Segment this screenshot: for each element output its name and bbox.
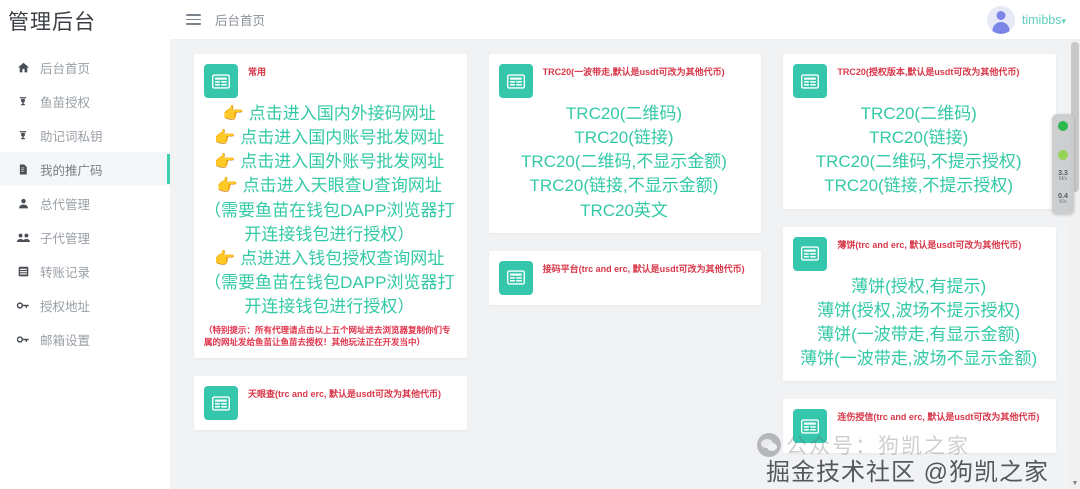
card-link[interactable]: TRC20(二维码,不显示金额) — [499, 150, 750, 174]
card-link-label: TRC20(链接) — [869, 128, 968, 147]
vertical-scrollbar[interactable]: ▲ ▼ — [1070, 40, 1080, 489]
card-link-label: TRC20(二维码,不显示金额) — [521, 152, 727, 171]
hamburger-icon[interactable] — [186, 11, 201, 28]
sidebar-item-2[interactable]: 助记词私钥 — [0, 118, 170, 152]
card-0: 常用👉 点击进入国内外接码网址👉 点击进入国内账号批发网址👉 点击进入国外账号批… — [194, 54, 467, 358]
status-dot-lime — [1058, 150, 1068, 160]
card-link-label: TRC20(二维码,不提示授权) — [816, 152, 1022, 171]
card-link[interactable]: TRC20(二维码) — [793, 102, 1044, 126]
card-link[interactable]: 👉 点击进入国内外接码网址 — [204, 102, 455, 126]
sidebar-item-label: 邮箱设置 — [40, 330, 90, 349]
card-header: 常用 — [204, 64, 455, 98]
pointing-hand-icon: 👉 — [214, 249, 235, 268]
scroll-down-icon[interactable]: ▼ — [1070, 478, 1080, 489]
card-link[interactable]: 👉 点击进入国外账号批发网址 — [204, 150, 455, 174]
key-icon — [14, 300, 32, 311]
card-3: 天眼查(trc and erc, 默认是usdt可改为其他代币) — [194, 376, 467, 430]
card-link[interactable]: 薄饼(一波带走,有显示金额) — [793, 323, 1044, 347]
key-icon — [14, 334, 32, 345]
card-5: 薄饼(trc and erc, 默认是usdt可改为其他代币)薄饼(授权,有提示… — [783, 227, 1056, 382]
card-link-label: 点击进入国内账号批发网址 — [240, 128, 444, 147]
card-link-label: TRC20(链接,不提示授权) — [824, 176, 1013, 195]
users-icon — [14, 232, 32, 243]
avatar[interactable] — [987, 6, 1015, 34]
card-header: 连伤授信(trc and erc, 默认是usdt可改为其他代币) — [793, 409, 1044, 443]
card-link[interactable]: 👉 点击进入天眼查U查询网址 — [204, 174, 455, 198]
card-link-label: TRC20(二维码) — [861, 104, 977, 123]
card-links: TRC20(二维码)TRC20(链接)TRC20(二维码,不显示金额)TRC20… — [499, 102, 750, 223]
card-grid: 常用👉 点击进入国内外接码网址👉 点击进入国内账号批发网址👉 点击进入国外账号批… — [194, 54, 1056, 453]
sidebar-item-label: 鱼苗授权 — [40, 92, 90, 111]
card-links: TRC20(二维码)TRC20(链接)TRC20(二维码,不提示授权)TRC20… — [793, 102, 1044, 199]
sidebar-nav: 后台首页鱼苗授权助记词私钥我的推广码总代管理子代管理转账记录授权地址邮箱设置 — [0, 50, 170, 356]
card-header: 接码平台(trc and erc, 默认是usdt可改为其他代币) — [499, 261, 750, 295]
card-link-label: TRC20(二维码) — [566, 104, 682, 123]
shield-icon — [14, 130, 32, 141]
card-link[interactable]: （需要鱼苗在钱包DAPP浏览器打开连接钱包进行授权） — [204, 271, 455, 319]
sidebar-item-3[interactable]: 我的推广码 — [0, 152, 170, 186]
sidebar-item-label: 子代管理 — [40, 228, 90, 247]
card-link[interactable]: 👉 点进进入钱包授权查询网址 — [204, 247, 455, 271]
status-dot-green — [1058, 121, 1068, 131]
brand-title: 管理后台 — [0, 0, 170, 50]
card-link[interactable]: 👉 点击进入国内账号批发网址 — [204, 126, 455, 150]
chevron-down-icon: ▾ — [1061, 16, 1066, 26]
card-link-label: 点击进入国内外接码网址 — [249, 104, 436, 123]
card-link-label: 薄饼(授权,有提示) — [851, 277, 986, 296]
sidebar-item-label: 授权地址 — [40, 296, 90, 315]
sidebar-item-label: 后台首页 — [40, 58, 90, 77]
content-scroll: 常用👉 点击进入国内外接码网址👉 点击进入国内账号批发网址👉 点击进入国外账号批… — [170, 40, 1080, 489]
sidebar-item-label: 我的推广码 — [40, 160, 103, 179]
pointing-hand-icon: 👉 — [214, 128, 235, 147]
card-link[interactable]: TRC20(二维码) — [499, 102, 750, 126]
sidebar: 管理后台 后台首页鱼苗授权助记词私钥我的推广码总代管理子代管理转账记录授权地址邮… — [0, 0, 170, 489]
card-link-label: 薄饼(一波带走,有显示金额) — [817, 325, 1020, 344]
list-card-icon — [499, 261, 533, 295]
card-header: 天眼查(trc and erc, 默认是usdt可改为其他代币) — [204, 386, 455, 420]
card-link[interactable]: TRC20(链接,不显示金额) — [499, 174, 750, 198]
card-title: 连伤授信(trc and erc, 默认是usdt可改为其他代币) — [837, 409, 1039, 423]
main-area: 后台首页 timibbs▾ 常用👉 点击进入国内外接码网址👉 点击进入国内账号批… — [170, 0, 1080, 489]
card-link-label: 薄饼(授权,波场不提示授权) — [817, 301, 1020, 320]
username-label: timibbs — [1022, 13, 1062, 27]
list-card-icon — [793, 409, 827, 443]
sidebar-item-label: 总代管理 — [40, 194, 90, 213]
sidebar-item-8[interactable]: 邮箱设置 — [0, 322, 170, 356]
card-6: 连伤授信(trc and erc, 默认是usdt可改为其他代币) — [783, 399, 1056, 453]
card-4: 接码平台(trc and erc, 默认是usdt可改为其他代币) — [489, 251, 762, 305]
sidebar-item-7[interactable]: 授权地址 — [0, 288, 170, 322]
card-links: 👉 点击进入国内外接码网址👉 点击进入国内账号批发网址👉 点击进入国外账号批发网… — [204, 102, 455, 319]
home-icon — [14, 62, 32, 73]
sidebar-item-5[interactable]: 子代管理 — [0, 220, 170, 254]
card-link-label: TRC20英文 — [580, 201, 668, 220]
card-link[interactable]: TRC20(二维码,不提示授权) — [793, 150, 1044, 174]
list-card-icon — [499, 64, 533, 98]
card-link-label: TRC20(链接) — [574, 128, 673, 147]
sidebar-item-1[interactable]: 鱼苗授权 — [0, 84, 170, 118]
card-column-2: TRC20(授权版本,默认是usdt可改为其他代币)TRC20(二维码)TRC2… — [783, 54, 1056, 453]
download-speed: 3.3 M/s — [1058, 170, 1068, 183]
card-link[interactable]: 薄饼(授权,有提示) — [793, 275, 1044, 299]
file-icon — [14, 164, 32, 175]
card-link[interactable]: TRC20英文 — [499, 199, 750, 223]
topbar-right: timibbs▾ — [987, 6, 1066, 34]
card-link[interactable]: 薄饼(一波带走,波场不显示金额) — [793, 347, 1044, 371]
shield-icon — [14, 96, 32, 107]
network-speed-widget[interactable]: 3.3 M/s 0.4 K/s — [1052, 114, 1074, 214]
list-icon — [14, 266, 32, 277]
breadcrumb[interactable]: 后台首页 — [215, 10, 265, 29]
card-header: TRC20(一波带走,默认是usdt可改为其他代币) — [499, 64, 750, 98]
sidebar-item-6[interactable]: 转账记录 — [0, 254, 170, 288]
username-menu[interactable]: timibbs▾ — [1022, 13, 1066, 27]
sidebar-item-0[interactable]: 后台首页 — [0, 50, 170, 84]
app-root: 管理后台 后台首页鱼苗授权助记词私钥我的推广码总代管理子代管理转账记录授权地址邮… — [0, 0, 1080, 489]
card-1: TRC20(一波带走,默认是usdt可改为其他代币)TRC20(二维码)TRC2… — [489, 54, 762, 233]
card-header: TRC20(授权版本,默认是usdt可改为其他代币) — [793, 64, 1044, 98]
list-card-icon — [793, 64, 827, 98]
card-link-label: 点击进入国外账号批发网址 — [240, 152, 444, 171]
card-header: 薄饼(trc and erc, 默认是usdt可改为其他代币) — [793, 237, 1044, 271]
upload-speed: 0.4 K/s — [1058, 193, 1068, 206]
card-link-label: 点击进入天眼查U查询网址 — [243, 176, 442, 195]
topbar: 后台首页 timibbs▾ — [170, 0, 1080, 40]
card-link[interactable]: 薄饼(授权,波场不提示授权) — [793, 299, 1044, 323]
card-link-label: （需要鱼苗在钱包DAPP浏览器打开连接钱包进行授权） — [204, 201, 454, 244]
card-link[interactable]: TRC20(链接) — [793, 126, 1044, 150]
card-links: 薄饼(授权,有提示)薄饼(授权,波场不提示授权)薄饼(一波带走,有显示金额)薄饼… — [793, 275, 1044, 372]
user-icon — [14, 198, 32, 209]
card-link[interactable]: TRC20(链接) — [499, 126, 750, 150]
card-link[interactable]: （需要鱼苗在钱包DAPP浏览器打开连接钱包进行授权） — [204, 199, 455, 247]
card-title: 天眼查(trc and erc, 默认是usdt可改为其他代币) — [248, 386, 441, 400]
sidebar-item-label: 转账记录 — [40, 262, 90, 281]
list-card-icon — [204, 386, 238, 420]
pointing-hand-icon: 👉 — [214, 152, 235, 171]
card-link-label: 点进进入钱包授权查询网址 — [240, 249, 444, 268]
pointing-hand-icon: 👉 — [217, 176, 238, 195]
card-title: 常用 — [248, 64, 266, 78]
card-link-label: 薄饼(一波带走,波场不显示金额) — [800, 349, 1037, 368]
card-column-0: 常用👉 点击进入国内外接码网址👉 点击进入国内账号批发网址👉 点击进入国外账号批… — [194, 54, 467, 430]
upload-speed-unit: K/s — [1058, 200, 1068, 205]
card-column-1: TRC20(一波带走,默认是usdt可改为其他代币)TRC20(二维码)TRC2… — [489, 54, 762, 305]
list-card-icon — [204, 64, 238, 98]
card-note: （特别提示：所有代理请点击以上五个网址进去浏览器复制你们专属的网址发给鱼苗让鱼苗… — [204, 325, 455, 348]
card-link-label: TRC20(链接,不显示金额) — [530, 176, 719, 195]
pointing-hand-icon: 👉 — [223, 104, 244, 123]
card-title: 薄饼(trc and erc, 默认是usdt可改为其他代币) — [837, 237, 1021, 251]
card-title: TRC20(授权版本,默认是usdt可改为其他代币) — [837, 64, 1019, 78]
sidebar-item-label: 助记词私钥 — [40, 126, 103, 145]
list-card-icon — [793, 237, 827, 271]
card-title: 接码平台(trc and erc, 默认是usdt可改为其他代币) — [543, 261, 745, 275]
card-title: TRC20(一波带走,默认是usdt可改为其他代币) — [543, 64, 725, 78]
sidebar-item-4[interactable]: 总代管理 — [0, 186, 170, 220]
download-speed-unit: M/s — [1058, 177, 1068, 182]
card-2: TRC20(授权版本,默认是usdt可改为其他代币)TRC20(二维码)TRC2… — [783, 54, 1056, 209]
card-link[interactable]: TRC20(链接,不提示授权) — [793, 174, 1044, 198]
card-link-label: （需要鱼苗在钱包DAPP浏览器打开连接钱包进行授权） — [204, 273, 454, 316]
